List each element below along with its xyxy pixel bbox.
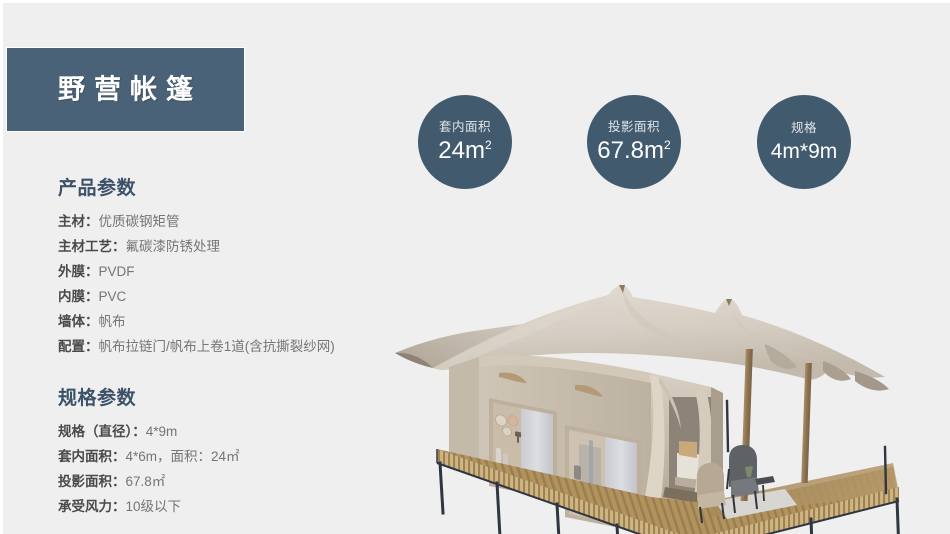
stat-badge-label: 套内面积 [439,121,491,134]
page-title-banner: 野营帐篷 [7,48,244,131]
spec-row: 规格（直径）：4*9m [58,419,240,444]
product-parameters-section: 产品参数 主材：优质碳钢矩管 主材工艺：氟碳漆防锈处理 外膜：PVDF 内膜：P… [58,179,335,359]
spec-row: 内膜：PVC [58,284,335,309]
spec-value: PVC [99,289,127,304]
spec-value: 帆布拉链门/帆布上卷1道(含抗撕裂纱网) [99,339,335,354]
spec-value: 10级以下 [126,499,182,514]
stat-badge-value: 67.8m2 [597,139,670,163]
spec-label: 墙体： [58,314,99,329]
spec-row: 外膜：PVDF [58,259,335,284]
spec-value: PVDF [99,264,135,279]
spec-row: 套内面积：4*6m，面积：24㎡ [58,444,240,469]
spec-label: 套内面积： [58,449,126,464]
stat-badge-number: 24 [438,137,465,164]
spec-label: 主材工艺： [58,239,126,254]
section-heading-spec: 规格参数 [58,389,240,410]
stat-badge-value: 24m2 [438,139,491,163]
product-spec-page: 野营帐篷 产品参数 主材：优质碳钢矩管 主材工艺：氟碳漆防锈处理 外膜：PVDF… [0,0,950,534]
spec-row: 投影面积：67.8㎡ [58,469,240,494]
spec-value: 优质碳钢矩管 [99,214,180,229]
spec-row: 承受风力：10级以下 [58,494,240,519]
spec-row: 墙体：帆布 [58,309,335,334]
spec-value: 4*9m [146,424,178,439]
spec-row: 配置：帆布拉链门/帆布上卷1道(含抗撕裂纱网) [58,334,335,359]
section-heading-product: 产品参数 [58,179,335,200]
spec-value: 氟碳漆防锈处理 [126,239,221,254]
specification-parameters-section: 规格参数 规格（直径）：4*9m 套内面积：4*6m，面积：24㎡ 投影面积：6… [58,389,240,519]
spec-row: 主材：优质碳钢矩管 [58,209,335,234]
spec-value: 67.8㎡ [126,474,166,489]
stat-badge-number: 67.8 [597,137,644,164]
spec-value: 4*6m，面积：24㎡ [126,449,240,464]
stat-badge-exponent: 2 [664,138,671,152]
spec-label: 规格（直径）： [58,424,146,439]
page-title: 野营帐篷 [7,76,244,103]
spec-label: 投影面积： [58,474,126,489]
spec-value: 帆布 [99,314,126,329]
spec-label: 配置： [58,339,99,354]
stat-badge-dimensions: 规格 4m*9m [757,95,851,189]
spec-row: 主材工艺：氟碳漆防锈处理 [58,234,335,259]
tent-illustration: 雪利篷房 [393,201,950,534]
stat-badge-projected-area: 投影面积 67.8m2 [587,95,681,189]
stat-badge-label: 投影面积 [608,121,660,134]
stat-badge-unit: m [465,137,485,164]
stat-badge-exponent: 2 [485,138,492,152]
spec-label: 外膜： [58,264,99,279]
spec-label: 主材： [58,214,99,229]
stat-badge-interior-area: 套内面积 24m2 [418,95,512,189]
stat-badge-label: 规格 [791,122,817,135]
spec-label: 承受风力： [58,499,126,514]
stat-badge-unit: m [644,137,664,164]
stat-badge-value: 4m*9m [771,141,838,162]
stat-badge-number: 4m*9m [771,140,838,163]
spec-label: 内膜： [58,289,99,304]
